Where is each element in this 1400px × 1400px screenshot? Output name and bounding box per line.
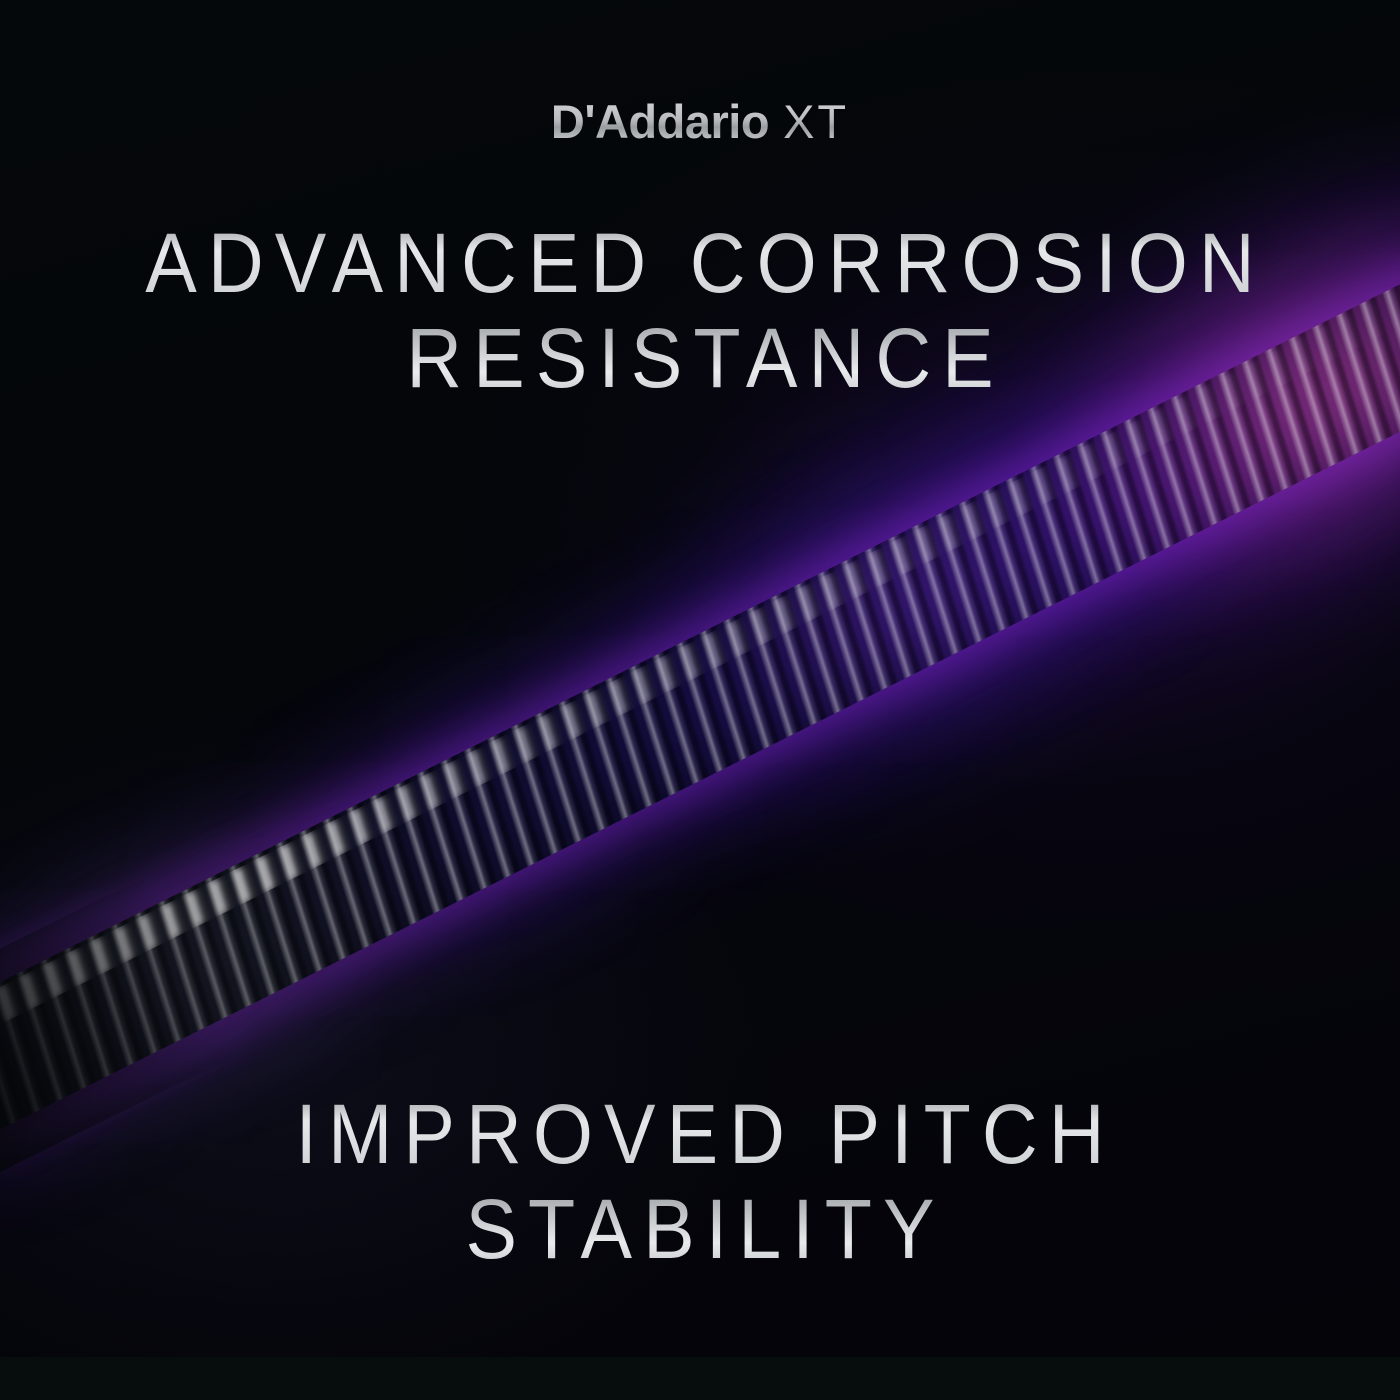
brand-name: D'Addario [551,95,769,148]
headline: ADVANCED CORROSION RESISTANCE [56,216,1344,406]
subheadline: IMPROVED PITCH STABILITY [56,1087,1344,1277]
headline-line-2: RESISTANCE [56,311,1344,406]
headline-line-1: ADVANCED CORROSION [145,216,1265,310]
brand-product-line: XT [783,95,849,148]
brand-logo: D'AddarioXT [0,98,1400,145]
subheadline-line-1: IMPROVED PITCH [295,1087,1115,1181]
subheadline-line-2: STABILITY [56,1182,1344,1277]
product-marketing-banner: D'AddarioXT ADVANCED CORROSION RESISTANC… [0,0,1400,1400]
